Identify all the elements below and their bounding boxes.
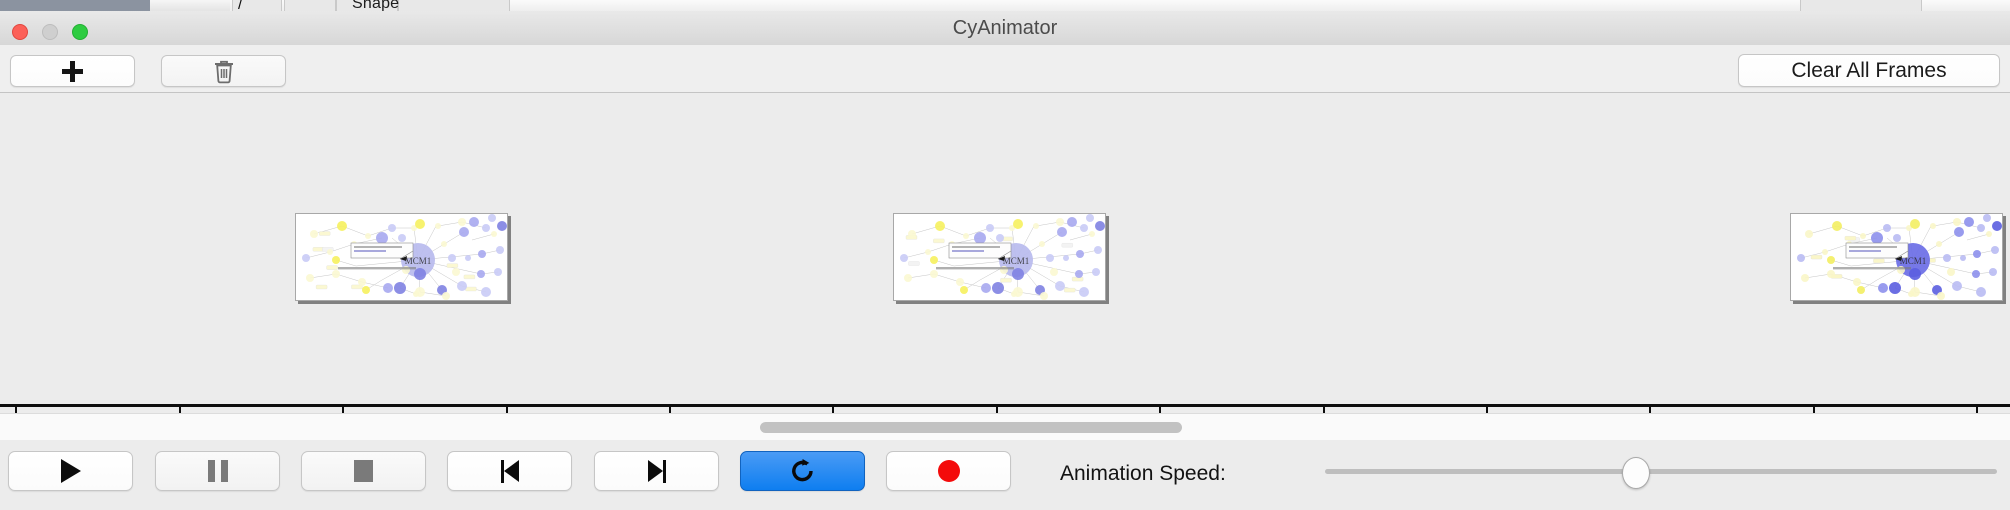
animation-speed-slider-thumb[interactable]: [1622, 457, 1650, 489]
background-glyph-icon: /: [238, 0, 242, 11]
timeline-frame-thumbnail[interactable]: MCM1: [1790, 213, 2003, 301]
background-chip-2: [284, 0, 336, 11]
trash-icon: [213, 59, 235, 84]
scrollbar-thumb[interactable]: [760, 422, 1182, 433]
frames-toolbar: Clear All Frames: [0, 45, 2010, 93]
skip-previous-icon: [501, 460, 519, 483]
pause-icon: [208, 460, 228, 482]
svg-text:MCM1: MCM1: [1900, 256, 1927, 266]
clear-all-frames-button[interactable]: Clear All Frames: [1738, 54, 2000, 87]
timeline-frame-thumbnail[interactable]: MCM1: [893, 213, 1106, 301]
background-toolbar-strip: [150, 0, 230, 11]
delete-frame-button[interactable]: [161, 55, 286, 87]
stop-icon: [354, 460, 373, 482]
background-chip-4: [398, 0, 510, 11]
timeline-frame-thumbnail[interactable]: MCM1: [295, 213, 508, 301]
background-window: / T Shape: [0, 0, 2010, 11]
stop-button[interactable]: [301, 451, 426, 491]
loop-button[interactable]: [740, 451, 865, 491]
play-icon: [61, 459, 81, 483]
previous-frame-button[interactable]: [447, 451, 572, 491]
add-frame-button[interactable]: [10, 55, 135, 87]
skip-next-icon: [648, 460, 666, 483]
window-title: CyAnimator: [0, 11, 2010, 45]
svg-text:MCM1: MCM1: [1003, 256, 1030, 266]
svg-text:MCM1: MCM1: [405, 256, 432, 266]
background-window-label: Shape: [352, 0, 399, 11]
background-window-titlebar: [0, 0, 150, 11]
background-chip-5: [1800, 0, 1922, 11]
window-titlebar: CyAnimator: [0, 11, 2010, 46]
loop-icon: [790, 457, 816, 485]
pause-button[interactable]: [155, 451, 280, 491]
next-frame-button[interactable]: [594, 451, 719, 491]
timeline-scrollbar[interactable]: [0, 413, 2010, 441]
record-icon: [938, 460, 960, 482]
plus-icon: [62, 61, 83, 82]
record-button[interactable]: [886, 451, 1011, 491]
animation-speed-slider[interactable]: [1325, 469, 1997, 474]
timeline-axis-line: [0, 404, 2010, 407]
animation-speed-label: Animation Speed:: [1060, 462, 1226, 486]
playback-controls: Animation Speed:: [0, 440, 2010, 510]
timeline-panel[interactable]: MCM1 MCM1 MCM1 2131415161718 Seconds: [0, 93, 2010, 413]
play-button[interactable]: [8, 451, 133, 491]
